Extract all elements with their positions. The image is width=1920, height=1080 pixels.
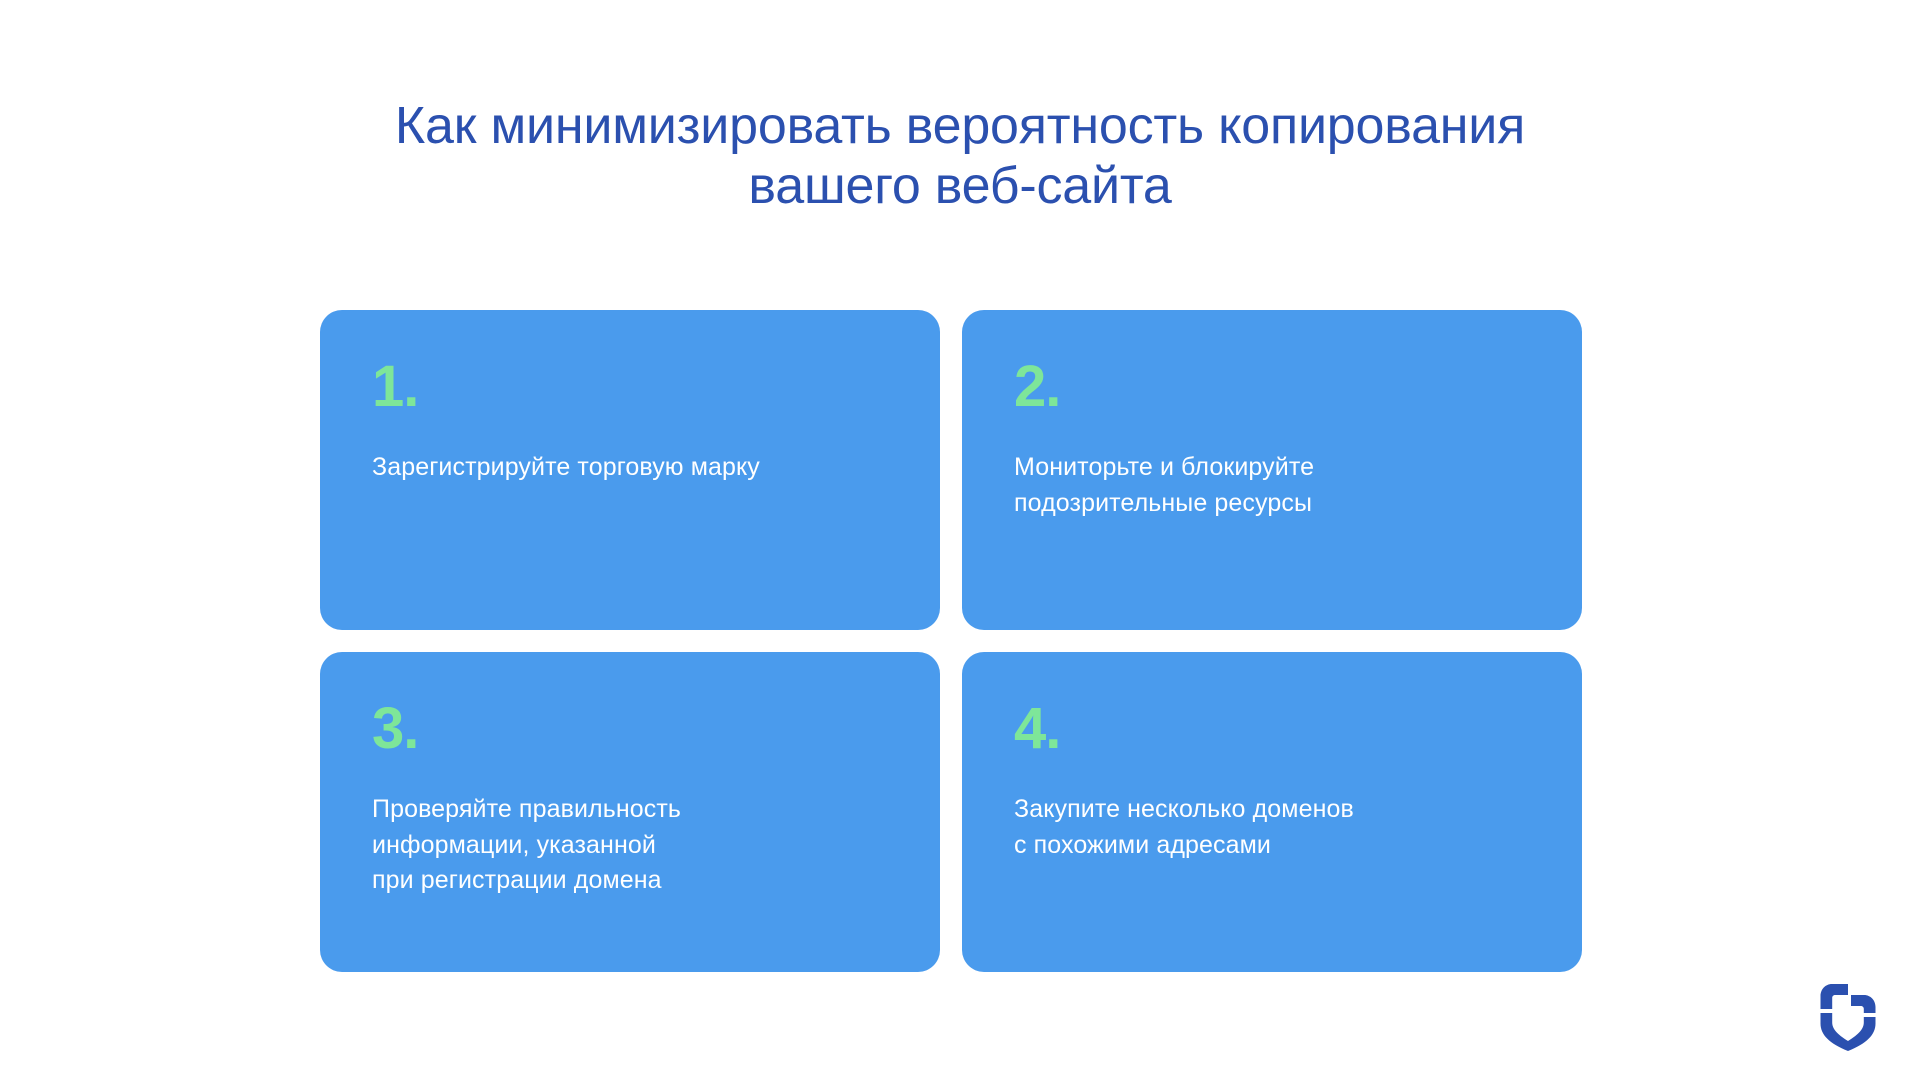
card-4-number: 4.: [1014, 700, 1530, 758]
shield-logo-icon: [1818, 982, 1878, 1052]
card-2[interactable]: 2. Мониторьте и блокируйте подозрительны…: [962, 310, 1582, 630]
card-2-text: Мониторьте и блокируйте подозрительные р…: [1014, 450, 1530, 521]
page-title: Как минимизировать вероятность копирован…: [310, 96, 1610, 217]
card-3[interactable]: 3. Проверяйте правильность информации, у…: [320, 652, 940, 972]
card-4-text: Закупите несколько доменов с похожими ад…: [1014, 792, 1530, 863]
card-2-number: 2.: [1014, 358, 1530, 416]
slide-canvas: Как минимизировать вероятность копирован…: [0, 0, 1920, 1080]
title-block: Как минимизировать вероятность копирован…: [0, 96, 1920, 217]
card-3-number: 3.: [372, 700, 888, 758]
card-3-text: Проверяйте правильность информации, указ…: [372, 792, 888, 899]
card-1[interactable]: 1. Зарегистрируйте торговую марку: [320, 310, 940, 630]
card-4[interactable]: 4. Закупите несколько доменов с похожими…: [962, 652, 1582, 972]
cards-grid: 1. Зарегистрируйте торговую марку 2. Мон…: [320, 310, 1582, 972]
card-1-number: 1.: [372, 358, 888, 416]
card-1-text: Зарегистрируйте торговую марку: [372, 450, 888, 486]
